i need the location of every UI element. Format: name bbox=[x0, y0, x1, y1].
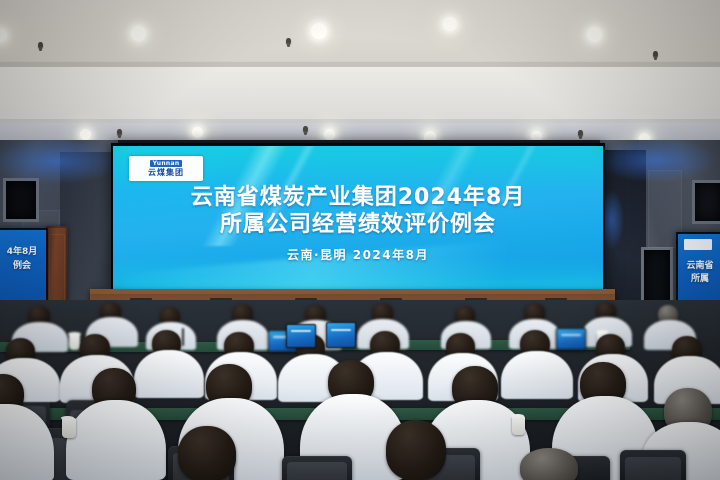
attendee-head-foreground bbox=[178, 426, 236, 480]
sprinkler-head bbox=[303, 126, 308, 133]
ceiling-band-middle bbox=[0, 67, 720, 119]
right-side-screen-line-2: 所属 bbox=[678, 271, 720, 284]
ceiling bbox=[0, 0, 720, 152]
sprinkler-head bbox=[38, 42, 43, 49]
presentation-slide: Yunnan 云煤集团 云南省煤炭产业集团2024年8月 所属公司经营绩效评价例… bbox=[113, 146, 603, 291]
ceiling-band-front bbox=[0, 0, 720, 62]
attendee-shirt bbox=[66, 400, 166, 480]
ceiling-light bbox=[192, 127, 203, 138]
slide-subtitle: 云南·昆明 2024年8月 bbox=[113, 246, 603, 263]
paper-cup bbox=[69, 334, 80, 350]
monitor[interactable] bbox=[286, 324, 316, 348]
attendee-shirt bbox=[501, 351, 573, 399]
chair-cushion bbox=[287, 462, 347, 480]
left-side-screen: 4年8月 例会 bbox=[0, 228, 48, 310]
right-side-screen: 云南省 所属 bbox=[676, 232, 720, 310]
attendee-head-foreground bbox=[386, 420, 446, 480]
right-side-screen-line-1: 云南省 bbox=[678, 258, 720, 271]
main-led-screen: Yunnan 云煤集团 云南省煤炭产业集团2024年8月 所属公司经营绩效评价例… bbox=[111, 143, 605, 293]
ceiling-light bbox=[587, 27, 602, 42]
sprinkler-head bbox=[286, 38, 291, 45]
chair-cushion bbox=[625, 457, 682, 480]
chair bbox=[282, 456, 352, 480]
podium-top-trim bbox=[90, 289, 615, 294]
sprinkler-head bbox=[117, 129, 122, 136]
left-side-screen-line-2: 例会 bbox=[0, 258, 46, 271]
chair bbox=[620, 450, 686, 480]
slide-title-line-1: 云南省煤炭产业集团2024年8月 bbox=[113, 184, 603, 211]
laptop-screen bbox=[557, 329, 585, 349]
ceiling-light bbox=[324, 129, 335, 140]
laptop[interactable] bbox=[556, 328, 586, 350]
right-side-screen-logo bbox=[684, 239, 712, 250]
slide-title-line-2: 所属公司经营绩效评价例会 bbox=[113, 211, 603, 238]
sprinkler-head bbox=[653, 51, 658, 58]
monitor-screen bbox=[287, 325, 315, 347]
paper-cup bbox=[62, 418, 76, 438]
left-side-screen-content: 4年8月 例会 bbox=[0, 230, 46, 308]
monitor-screen bbox=[327, 323, 355, 347]
sprinkler-head bbox=[578, 130, 583, 137]
conference-room-photo: Yunnan 云煤集团 云南省煤炭产业集团2024年8月 所属公司经营绩效评价例… bbox=[0, 0, 720, 480]
microphone[interactable] bbox=[182, 328, 184, 346]
attendee-shirt bbox=[134, 350, 204, 398]
right-side-screen-content: 云南省 所属 bbox=[678, 234, 720, 308]
paper-cup bbox=[512, 416, 525, 435]
slide-title: 云南省煤炭产业集团2024年8月 所属公司经营绩效评价例会 bbox=[113, 184, 603, 238]
audience-area bbox=[0, 300, 720, 480]
monitor[interactable] bbox=[326, 322, 356, 348]
ceiling-light bbox=[311, 23, 327, 39]
logo-chinese-text: 云煤集团 bbox=[148, 168, 184, 177]
right-wall-upper-window bbox=[692, 180, 720, 224]
left-wall-window bbox=[3, 178, 39, 222]
ceiling-light bbox=[443, 17, 457, 31]
ceiling-light bbox=[80, 129, 91, 140]
slide-company-logo: Yunnan 云煤集团 bbox=[129, 156, 203, 181]
attendee-head-foreground bbox=[520, 448, 578, 480]
left-side-screen-line-1: 4年8月 bbox=[0, 244, 46, 257]
logo-english-text: Yunnan bbox=[150, 160, 183, 167]
ceiling-light bbox=[131, 26, 146, 41]
